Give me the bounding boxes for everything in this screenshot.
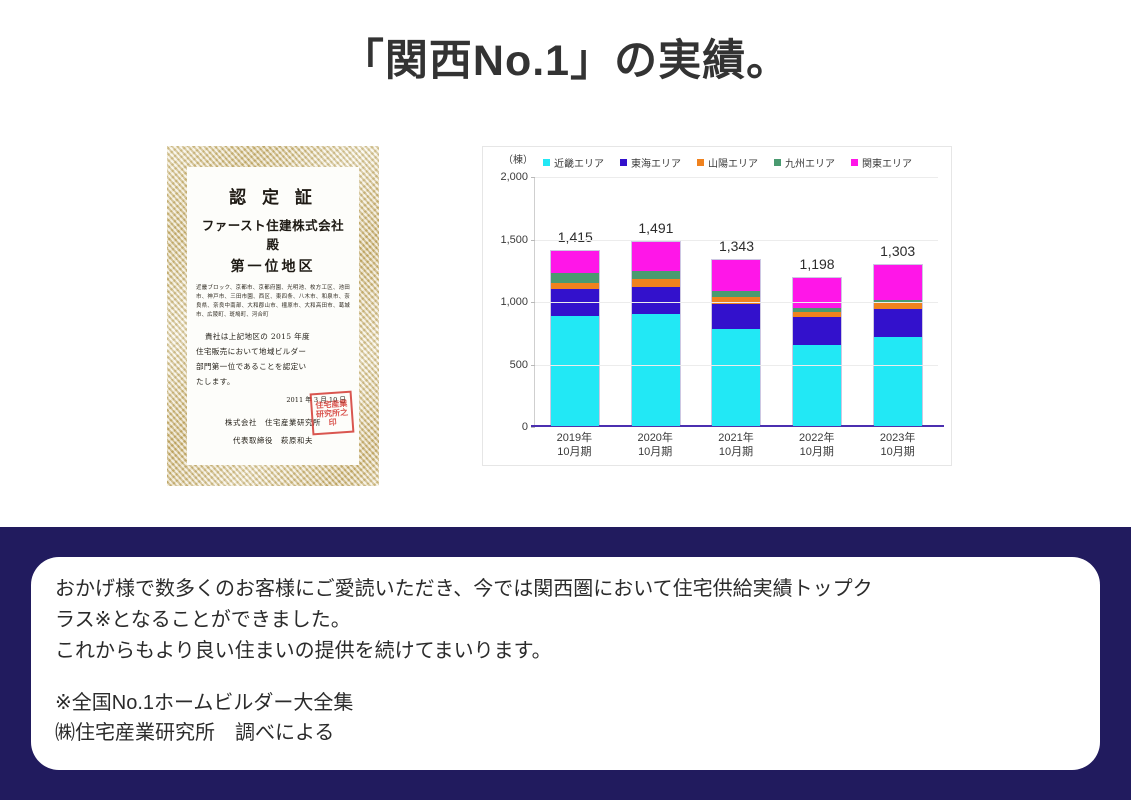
statement-footnotes: ※全国No.1ホームビルダー大全集 ㈱住宅産業研究所 調べによる <box>55 688 755 748</box>
chart-x-label-line: 2021年 <box>696 431 777 445</box>
statement-line-3: これからもより良い住まいの提供を続けてまいります。 <box>55 636 1065 667</box>
chart-bar-segment <box>632 279 680 286</box>
legend-swatch-icon <box>620 159 627 166</box>
chart-y-tick-label: 2,000 <box>500 171 528 183</box>
sales-stacked-bar-chart: （棟） 近畿エリア東海エリア山陽エリア九州エリア関東エリア 1,4151,491… <box>482 146 952 466</box>
legend-swatch-icon <box>851 159 858 166</box>
chart-y-tick-label: 1,500 <box>500 234 528 246</box>
chart-bar-total-label: 1,491 <box>638 220 673 236</box>
certificate-body-line1: 貴社は上記地区の 2015 年度 <box>196 329 350 344</box>
chart-bar-segment <box>551 251 599 273</box>
certificate-body-line3: 部門第一位であることを認定い <box>196 359 350 374</box>
legend-swatch-icon <box>697 159 704 166</box>
chart-x-label-line: 2020年 <box>615 431 696 445</box>
chart-x-label-line: 10月期 <box>776 445 857 459</box>
certificate-company: ファースト住建株式会社 殿 <box>196 215 350 253</box>
chart-legend-item-2[interactable]: 東海エリア <box>620 155 681 170</box>
chart-gridline <box>535 177 938 178</box>
chart-bar-segment <box>632 314 680 426</box>
chart-gridline <box>535 240 938 241</box>
chart-x-label-line: 2019年 <box>534 431 615 445</box>
chart-bar-total-label: 1,415 <box>558 229 593 245</box>
chart-y-tickmark <box>531 427 535 428</box>
chart-legend: 近畿エリア東海エリア山陽エリア九州エリア関東エリア <box>543 155 945 170</box>
footnote-source-book: ※全国No.1ホームビルダー大全集 <box>55 688 755 718</box>
chart-legend-item-1[interactable]: 近畿エリア <box>543 155 604 170</box>
certificate-area-list: 近畿ブロック、京都市、京都府園、光明池、枚方工区、池田市、神戸市、三田市園、西区… <box>196 284 350 320</box>
certificate-rank: 第一位地区 <box>196 256 350 276</box>
chart-stacked-bar[interactable]: 1,303 <box>873 264 923 427</box>
chart-stacked-bar[interactable]: 1,491 <box>631 241 681 427</box>
chart-bar-segment <box>632 287 680 314</box>
chart-gridline <box>535 302 938 303</box>
chart-bar-segment <box>793 317 841 345</box>
chart-y-tick-label: 500 <box>510 359 528 371</box>
chart-x-axis-labels: 2019年10月期2020年10月期2021年10月期2022年10月期2023… <box>534 431 938 459</box>
chart-x-label-line: 2022年 <box>776 431 857 445</box>
chart-x-label: 2023年10月期 <box>857 431 938 459</box>
legend-label: 近畿エリア <box>554 155 604 170</box>
chart-bar-segment <box>551 273 599 282</box>
chart-bar-total-label: 1,343 <box>719 238 754 254</box>
chart-stacked-bar[interactable]: 1,343 <box>711 259 761 427</box>
legend-label: 関東エリア <box>862 155 912 170</box>
chart-x-label-line: 2023年 <box>857 431 938 445</box>
chart-plot-area: 1,4151,4911,3431,1981,303 05001,0001,500… <box>534 177 938 427</box>
certificate-body: 貴社は上記地区の 2015 年度 住宅販売において地域ビルダー 部門第一位である… <box>196 329 350 390</box>
certificate-seal-stamp: 住宅産業研究所之印 <box>310 391 355 436</box>
certificate-image: 認 定 証 ファースト住建株式会社 殿 第一位地区 近畿ブロック、京都市、京都府… <box>167 146 379 486</box>
chart-bar-total-label: 1,198 <box>800 256 835 272</box>
chart-y-tick-label: 0 <box>522 421 528 433</box>
chart-y-tickmark <box>531 365 535 366</box>
page-title: 「関西No.1」の実績。 <box>0 26 1131 88</box>
chart-x-label-line: 10月期 <box>857 445 938 459</box>
legend-label: 山陽エリア <box>708 155 758 170</box>
chart-bar-segment <box>793 278 841 308</box>
chart-x-label-line: 10月期 <box>615 445 696 459</box>
statement-paragraph: おかげ様で数多くのお客様にご愛読いただき、今では関西圏において住宅供給実績トップ… <box>55 574 1065 667</box>
chart-unit-label: （棟） <box>503 151 533 166</box>
chart-legend-item-4[interactable]: 九州エリア <box>774 155 835 170</box>
statement-line-1: おかげ様で数多くのお客様にご愛読いただき、今では関西圏において住宅供給実績トップ… <box>55 574 1065 605</box>
statement-line-2: ラス※となることができました。 <box>55 605 1065 636</box>
chart-y-tickmark <box>531 177 535 178</box>
certificate-body-line4: たします。 <box>196 374 350 389</box>
legend-label: 東海エリア <box>631 155 681 170</box>
chart-bar-segment <box>874 265 922 300</box>
chart-bar-segment <box>874 337 922 426</box>
certificate-body-line2: 住宅販売において地域ビルダー <box>196 344 350 359</box>
legend-swatch-icon <box>774 159 781 166</box>
chart-y-tickmark <box>531 240 535 241</box>
chart-legend-item-5[interactable]: 関東エリア <box>851 155 912 170</box>
chart-bar-segment <box>712 304 760 329</box>
chart-stacked-bar[interactable]: 1,415 <box>550 250 600 427</box>
chart-gridline <box>535 365 938 366</box>
chart-y-tick-label: 1,000 <box>500 296 528 308</box>
chart-bar-segment <box>874 309 922 337</box>
chart-x-label-line: 10月期 <box>534 445 615 459</box>
chart-bar-total-label: 1,303 <box>880 243 915 259</box>
chart-x-label-line: 10月期 <box>696 445 777 459</box>
chart-x-label: 2021年10月期 <box>696 431 777 459</box>
chart-legend-item-3[interactable]: 山陽エリア <box>697 155 758 170</box>
chart-bar-segment <box>712 329 760 426</box>
chart-bar-segment <box>632 242 680 271</box>
certificate-representative: 代表取締役 萩原和夫 <box>196 435 350 446</box>
chart-stacked-bar[interactable]: 1,198 <box>792 277 842 427</box>
chart-bar-segment <box>632 271 680 280</box>
certificate-heading: 認 定 証 <box>196 183 350 208</box>
chart-bar-segment <box>551 316 599 426</box>
chart-y-tickmark <box>531 302 535 303</box>
chart-x-label: 2020年10月期 <box>615 431 696 459</box>
chart-x-label: 2022年10月期 <box>776 431 857 459</box>
legend-swatch-icon <box>543 159 550 166</box>
chart-x-label: 2019年10月期 <box>534 431 615 459</box>
legend-label: 九州エリア <box>785 155 835 170</box>
chart-bar-segment <box>712 260 760 291</box>
chart-bar-segment <box>793 345 841 426</box>
footnote-research-institute: ㈱住宅産業研究所 調べによる <box>55 718 755 748</box>
